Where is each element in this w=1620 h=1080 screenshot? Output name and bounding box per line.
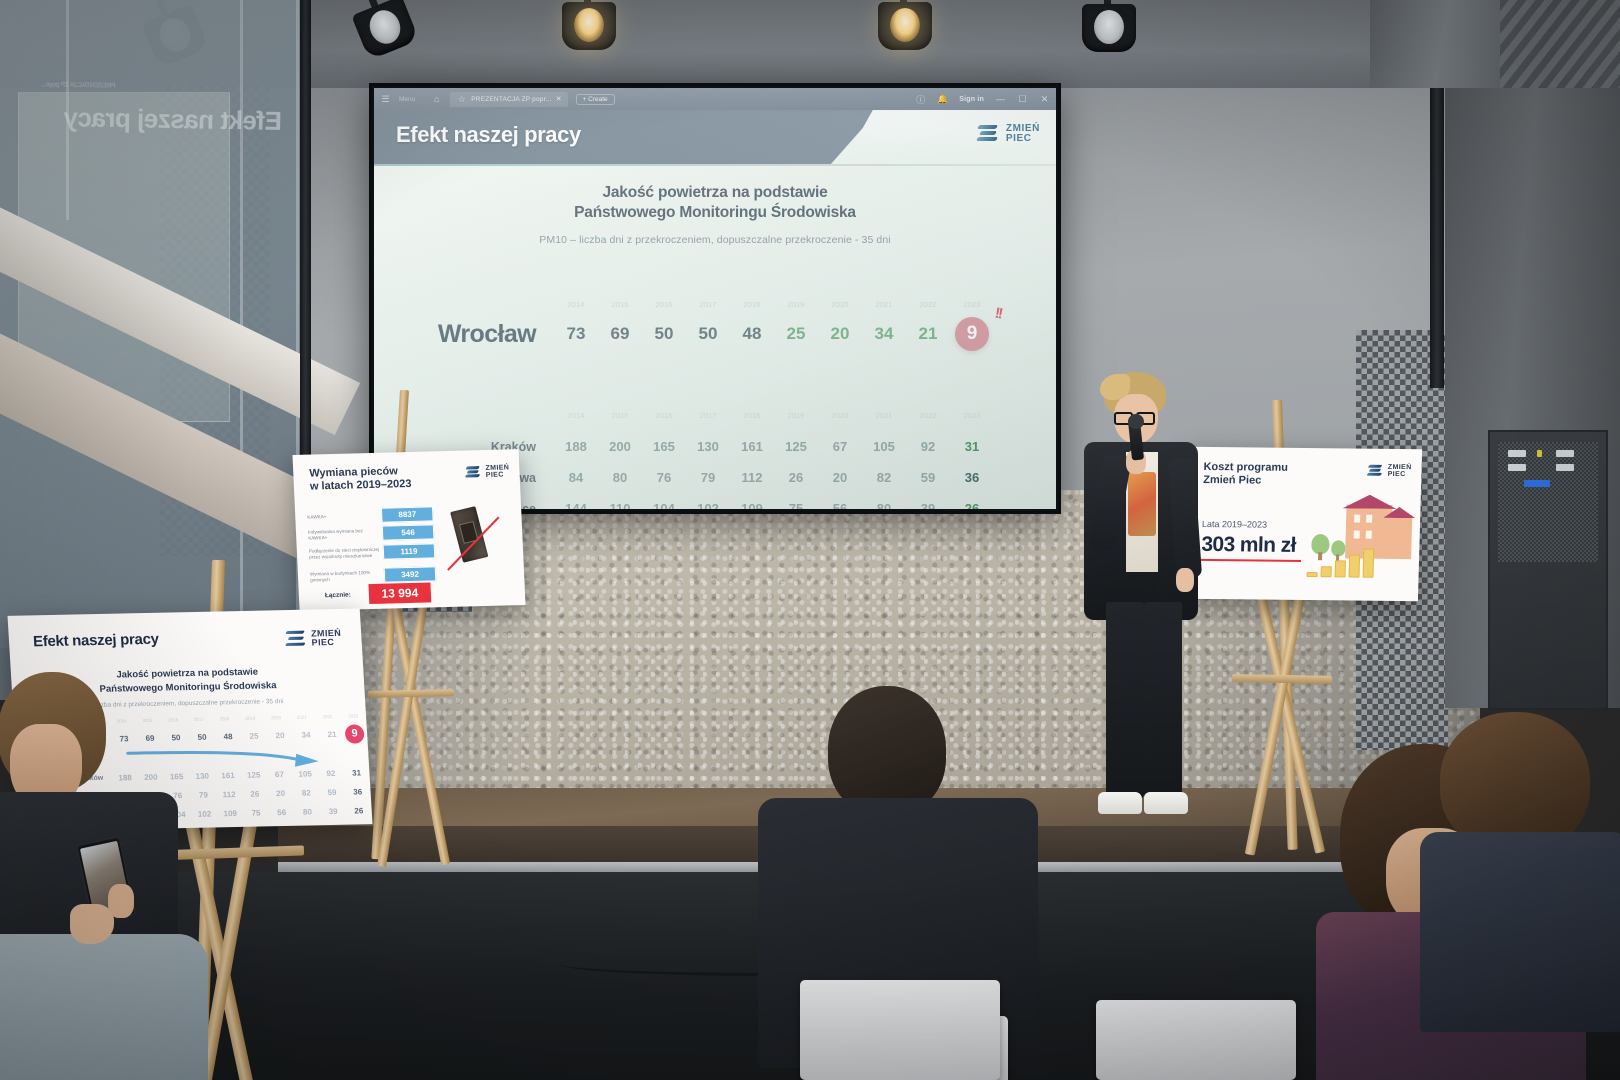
year-header-cell: 2020 [818, 411, 862, 420]
year-header-cell: 2016 [642, 300, 686, 309]
sign-in-button[interactable]: Sign in [959, 96, 984, 103]
spotlight-icon [872, 0, 938, 56]
maximize-button[interactable]: ☐ [1017, 94, 1028, 105]
close-icon[interactable]: ✕ [556, 95, 562, 103]
year-header-cell: 2021 [862, 300, 906, 309]
cell-katowice-2014: 144 [554, 501, 598, 509]
year-header-cell: 2019 [774, 300, 818, 309]
board3-cell: 31 [343, 768, 369, 778]
year-header-cell: 2023 [950, 300, 994, 309]
rack-indicator [1556, 464, 1574, 471]
cell-krakow-2021: 105 [862, 439, 906, 454]
coin-stack-icon [1349, 554, 1361, 577]
zmien-piec-logo-mark [1368, 463, 1384, 479]
board1-title: Wymiana pieców w latach 2019–2023 [309, 465, 412, 494]
row-label-wroclaw: Wrocław [374, 320, 554, 349]
cell-krakow-2020: 67 [818, 439, 862, 454]
cell-krakow-2015: 200 [598, 439, 642, 454]
cell-warszawa-2016: 76 [642, 470, 686, 485]
minimize-button[interactable]: — [995, 94, 1006, 105]
easel-crossbar [1232, 674, 1332, 684]
table-row: Wrocław 73 69 50 50 48 25 20 34 21 9 !! [374, 312, 1056, 356]
year-header-cell: 2014 [554, 300, 598, 309]
board1-row-label: Indywidualna wymiana bez KAWKA+ [308, 527, 383, 540]
logo-line-1: ZMIEŃ [485, 464, 509, 472]
zmien-piec-logo-text: ZMIEŃ PIEC [1388, 464, 1412, 479]
board1-row-label: KAWKA+ [307, 512, 381, 520]
browser-toolbar: ☰ Menu ⌂ ☆ PREZENTACJA ZP popr... ✕ + Cr… [374, 88, 1056, 110]
equipment-rack [1488, 430, 1608, 710]
board3-year: 2023 [340, 713, 366, 719]
home-icon[interactable]: ⌂ [431, 94, 442, 105]
easel-leg [1245, 569, 1310, 856]
speaker-hair-fringe [1100, 374, 1130, 400]
cell-wroclaw-2014: 73 [554, 324, 598, 344]
house-roof [1342, 494, 1396, 509]
board1-logo: ZMIEŃ PIEC [465, 463, 510, 480]
rack-indicator [1556, 450, 1574, 457]
cell-wroclaw-2022: 21 [906, 324, 950, 344]
zmien-piec-logo-text: ZMIEŃ PIEC [485, 464, 509, 479]
hamburger-menu-icon[interactable]: ☰ [380, 94, 391, 105]
cell-warszawa-2020: 20 [818, 470, 862, 485]
cell-krakow-2023: 31 [950, 439, 994, 454]
speaker-shoe [1144, 792, 1188, 814]
board1-title-line1: Wymiana pieców [309, 465, 398, 479]
year-header-cell: 2018 [730, 411, 774, 420]
board3-cell: 21 [319, 729, 346, 739]
house-illustration [1385, 515, 1412, 559]
year-header-cell: 2023 [950, 411, 994, 420]
logo-line-2: PIEC [486, 472, 504, 479]
logo-line-2: PIEC [1388, 471, 1406, 478]
year-header-cell: 2022 [906, 300, 950, 309]
chair [1096, 1000, 1296, 1080]
cell-krakow-2019: 125 [774, 439, 818, 454]
badge-value: 9 [967, 323, 978, 345]
year-header-cell: 2015 [598, 411, 642, 420]
cell-katowice-2017: 102 [686, 501, 730, 509]
help-circle-icon[interactable]: ⓘ [915, 94, 926, 105]
year-header-cell: 2018 [730, 300, 774, 309]
audience-hair [1440, 712, 1590, 852]
audience-hand [70, 904, 114, 944]
cell-warszawa-2018: 112 [730, 470, 774, 485]
cell-katowice-2023: 26 [950, 501, 994, 509]
speaker-shoe [1098, 792, 1142, 814]
board1-total-value: 13 994 [368, 582, 431, 604]
coin-stack-icon [1363, 549, 1375, 578]
cell-katowice-2021: 80 [862, 501, 906, 509]
board3-year: 2020 [263, 715, 289, 721]
audience-member-right-2 [1420, 712, 1620, 1042]
structural-pipe [300, 0, 311, 470]
cell-krakow-2014: 188 [554, 439, 598, 454]
speaker [1060, 372, 1220, 842]
board1-row-label: Wymiana w budynkach 100% gminnych [310, 569, 385, 582]
cell-katowice-2020: 56 [818, 501, 862, 509]
zmien-piec-logo: ZMIEŃ PIEC [976, 122, 1040, 146]
board3-title: Efekt naszej pracy [33, 631, 160, 651]
audience-sweater [0, 934, 208, 1080]
zmien-piec-logo-mark [465, 464, 482, 480]
board1-row-value: 8837 [381, 506, 434, 522]
board3-year: 2022 [315, 714, 341, 720]
zmien-piec-logo-text: ZMIEŃ PIEC [311, 628, 342, 647]
board3-logo: ZMIEŃ PIEC [285, 627, 342, 650]
year-header-cell: 2017 [686, 300, 730, 309]
cell-wroclaw-2015: 69 [598, 324, 642, 344]
speaker-right-leg [1144, 602, 1182, 798]
cell-wroclaw-2017: 50 [686, 324, 730, 344]
board1-row: Podłączenie do sieci ciepłowniczej przez… [309, 543, 436, 561]
menu-label[interactable]: Menu [399, 96, 415, 103]
speaker-hand [1176, 568, 1194, 592]
cell-krakow-2018: 161 [730, 439, 774, 454]
slide-heading-line2: Państwowego Monitoringu Środowiska [374, 204, 1056, 222]
board3-cell: 25 [241, 731, 268, 741]
board1-row-value: 3492 [384, 566, 437, 582]
coin-stack-icon [1335, 560, 1346, 577]
board1-total-label: Łącznie: [325, 592, 351, 600]
board3-year: 2021 [289, 714, 315, 720]
close-window-button[interactable]: ✕ [1039, 94, 1050, 105]
cell-krakow-2017: 130 [686, 439, 730, 454]
board1-row-label: Podłączenie do sieci ciepłowniczej przez… [309, 546, 384, 559]
zmien-piec-logo-text: ZMIEŃ PIEC [1006, 124, 1040, 144]
board3-cell: 82 [293, 788, 319, 798]
board3-cell: 20 [267, 789, 293, 799]
board3-cell: 39 [320, 807, 346, 817]
board3-cell: 59 [319, 788, 345, 798]
board1-row: KAWKA+ 8837 [307, 506, 434, 524]
slide-header-rule [374, 164, 1056, 166]
cell-warszawa-2014: 84 [554, 470, 598, 485]
audience-top [1420, 832, 1620, 1032]
microphone-head [1128, 414, 1144, 429]
spotlight-icon [1076, 0, 1142, 58]
cell-warszawa-2022: 59 [906, 470, 950, 485]
board1-row: Indywidualna wymiana bez KAWKA+ 546 [308, 524, 435, 542]
duct-hatch-pattern [1500, 0, 1620, 92]
audience-thumb [108, 884, 134, 918]
cell-warszawa-2023: 36 [950, 470, 994, 485]
cell-wroclaw-2018: 48 [730, 324, 774, 344]
slide-subtitle: PM10 – liczba dni z przekroczeniem, dopu… [374, 234, 1056, 246]
rack-indicator [1508, 464, 1526, 471]
structural-pipe [1430, 88, 1444, 388]
audience-hair [828, 686, 946, 816]
year-header-cell: 2020 [818, 300, 862, 309]
logo-line-1: ZMIEŃ [1388, 464, 1412, 471]
tab-prezentacja[interactable]: ☆ PREZENTACJA ZP popr... ✕ [450, 92, 567, 107]
year-header-cell: 2022 [906, 411, 950, 420]
presentation-room-photo: Efekt naszej pracy PREZENTACJA ZP popr..… [0, 0, 1620, 1080]
rack-indicator [1537, 450, 1542, 457]
board3-cell: 36 [345, 787, 371, 797]
coin-stack-icon [1307, 572, 1318, 577]
board1-row-value: 1119 [383, 543, 436, 559]
year-header-cell: 2015 [598, 300, 642, 309]
cell-warszawa-2019: 26 [774, 470, 818, 485]
cell-katowice-2016: 104 [642, 501, 686, 509]
bell-icon[interactable]: 🔔 [937, 94, 948, 105]
coin-stack-icon [1321, 566, 1332, 577]
rack-mesh-panel [1498, 442, 1598, 562]
house-window [1354, 515, 1360, 523]
board3-cell: 34 [293, 730, 320, 740]
cell-wroclaw-2021: 34 [862, 324, 906, 344]
cell-warszawa-2017: 79 [686, 470, 730, 485]
board-wymiana-piecow: Wymiana pieców w latach 2019–2023 ZMIEŃ … [292, 449, 525, 611]
star-icon[interactable]: ☆ [456, 94, 467, 105]
board1-title-line2: w latach 2019–2023 [310, 478, 412, 493]
cell-krakow-2016: 165 [642, 439, 686, 454]
tree-trunk [1318, 552, 1322, 560]
alert-exclamation: !! [994, 305, 1003, 323]
board2-logo: ZMIEŃ PIEC [1368, 463, 1412, 479]
year-header-cell: 2017 [686, 411, 730, 420]
house-window [1354, 531, 1360, 539]
cell-wroclaw-2020: 20 [818, 324, 862, 344]
board3-cell: 56 [269, 808, 295, 818]
speaker-left-leg [1106, 602, 1144, 798]
year-header-cell: 2021 [862, 411, 906, 420]
cell-katowice-2019: 75 [774, 501, 818, 509]
board1-row-value: 546 [382, 524, 435, 540]
zmien-piec-logo-mark [285, 628, 308, 650]
slide-title: Efekt naszej pracy [396, 122, 581, 148]
table-year-header-row: 2014 2015 2016 2017 2018 2019 2020 2021 … [374, 296, 1056, 312]
easel-crossbar [368, 689, 454, 697]
logo-line-2: PIEC [311, 637, 334, 647]
year-header-cell: 2014 [554, 411, 598, 420]
cell-warszawa-2015: 80 [598, 470, 642, 485]
cell-katowice-2015: 110 [598, 501, 642, 509]
spotlight-icon [556, 0, 622, 56]
slide-reflection-tabtext: PREZENTACJA ZP popr... [42, 81, 116, 89]
board3-year: 2019 [237, 715, 263, 721]
logo-line-2: PIEC [1006, 133, 1032, 144]
rack-indicator [1508, 450, 1526, 457]
board3-cell: 26 [242, 789, 268, 799]
speaker-shirt-print [1128, 472, 1156, 536]
house-window [1366, 531, 1372, 539]
toolbar-right-group: ⓘ 🔔 Sign in — ☐ ✕ [915, 94, 1050, 105]
slide-header: Efekt naszej pracy ZMIEŃ PIEC [374, 110, 1056, 164]
board3-cell: 20 [267, 730, 294, 740]
tab-label: PREZENTACJA ZP popr... [471, 96, 551, 103]
slide-heading-line1: Jakość powietrza na podstawie [374, 184, 1056, 202]
house-window [1366, 515, 1372, 523]
rack-indicator [1524, 480, 1550, 487]
slide-reflection-title: Efekt naszej pracy [64, 102, 282, 137]
cell-warszawa-2021: 82 [862, 470, 906, 485]
cell-katowice-2022: 39 [906, 501, 950, 509]
year-header-cell: 2019 [774, 411, 818, 420]
audience-member-filming [0, 672, 238, 1080]
year-header-cell: 2016 [642, 411, 686, 420]
board3-cell: 75 [243, 808, 269, 818]
create-button[interactable]: + Create [576, 94, 615, 105]
chair [800, 980, 1000, 1080]
cell-wroclaw-2019: 25 [774, 324, 818, 344]
board3-cell: 26 [346, 806, 372, 816]
cell-krakow-2022: 92 [906, 439, 950, 454]
cell-wroclaw-2016: 50 [642, 324, 686, 344]
board3-highlight-badge: 9 [345, 724, 365, 743]
highlight-badge-2023: 9 !! [955, 317, 989, 351]
board3-cell: 80 [294, 807, 320, 817]
zmien-piec-logo-mark [976, 122, 1000, 146]
cell-katowice-2018: 109 [730, 501, 774, 509]
